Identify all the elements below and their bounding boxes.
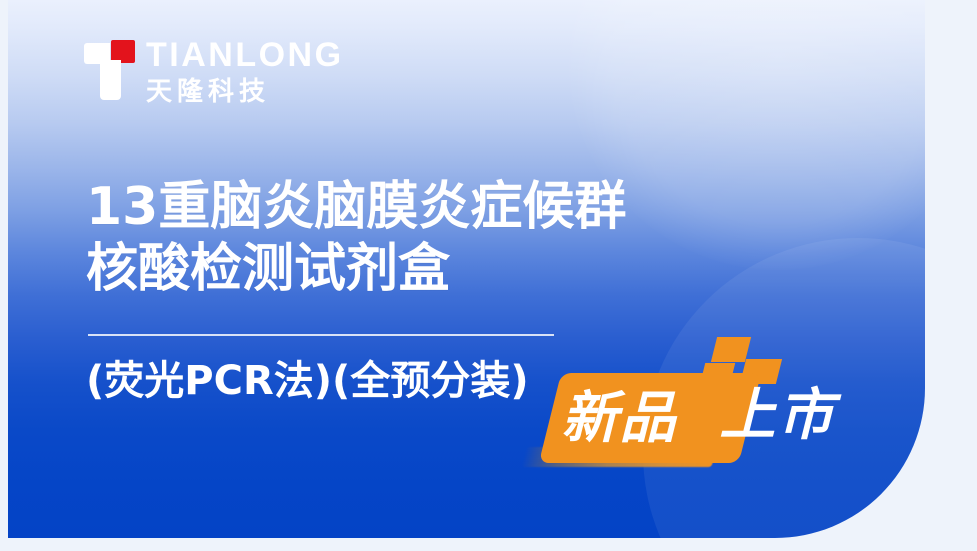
page-title: 13重脑炎脑膜炎症候群 核酸检测试剂盒	[86, 176, 726, 300]
page-title-line-2: 核酸检测试剂盒	[86, 238, 726, 300]
title-divider	[88, 334, 554, 336]
new-product-badge: 新品 上市	[528, 325, 888, 500]
brand-name-cn: 天隆科技	[146, 75, 344, 107]
brand-logo-text: TIANLONG 天隆科技	[146, 38, 344, 107]
badge-label-listed: 上市	[715, 380, 849, 452]
banner-blue-panel: TIANLONG 天隆科技 13重脑炎脑膜炎症候群 核酸检测试剂盒 (荧光PCR…	[8, 0, 925, 538]
product-launch-banner: TIANLONG 天隆科技 13重脑炎脑膜炎症候群 核酸检测试剂盒 (荧光PCR…	[0, 0, 977, 551]
brand-logo: TIANLONG 天隆科技	[84, 38, 344, 107]
page-title-line-1: 13重脑炎脑膜炎症候群	[86, 176, 726, 238]
tianlong-t-mark-icon	[84, 38, 132, 100]
page-subtitle: (荧光PCR法)(全预分装)	[86, 356, 529, 406]
logo-mark-notch	[100, 60, 109, 69]
brand-name-en: TIANLONG	[146, 38, 344, 72]
